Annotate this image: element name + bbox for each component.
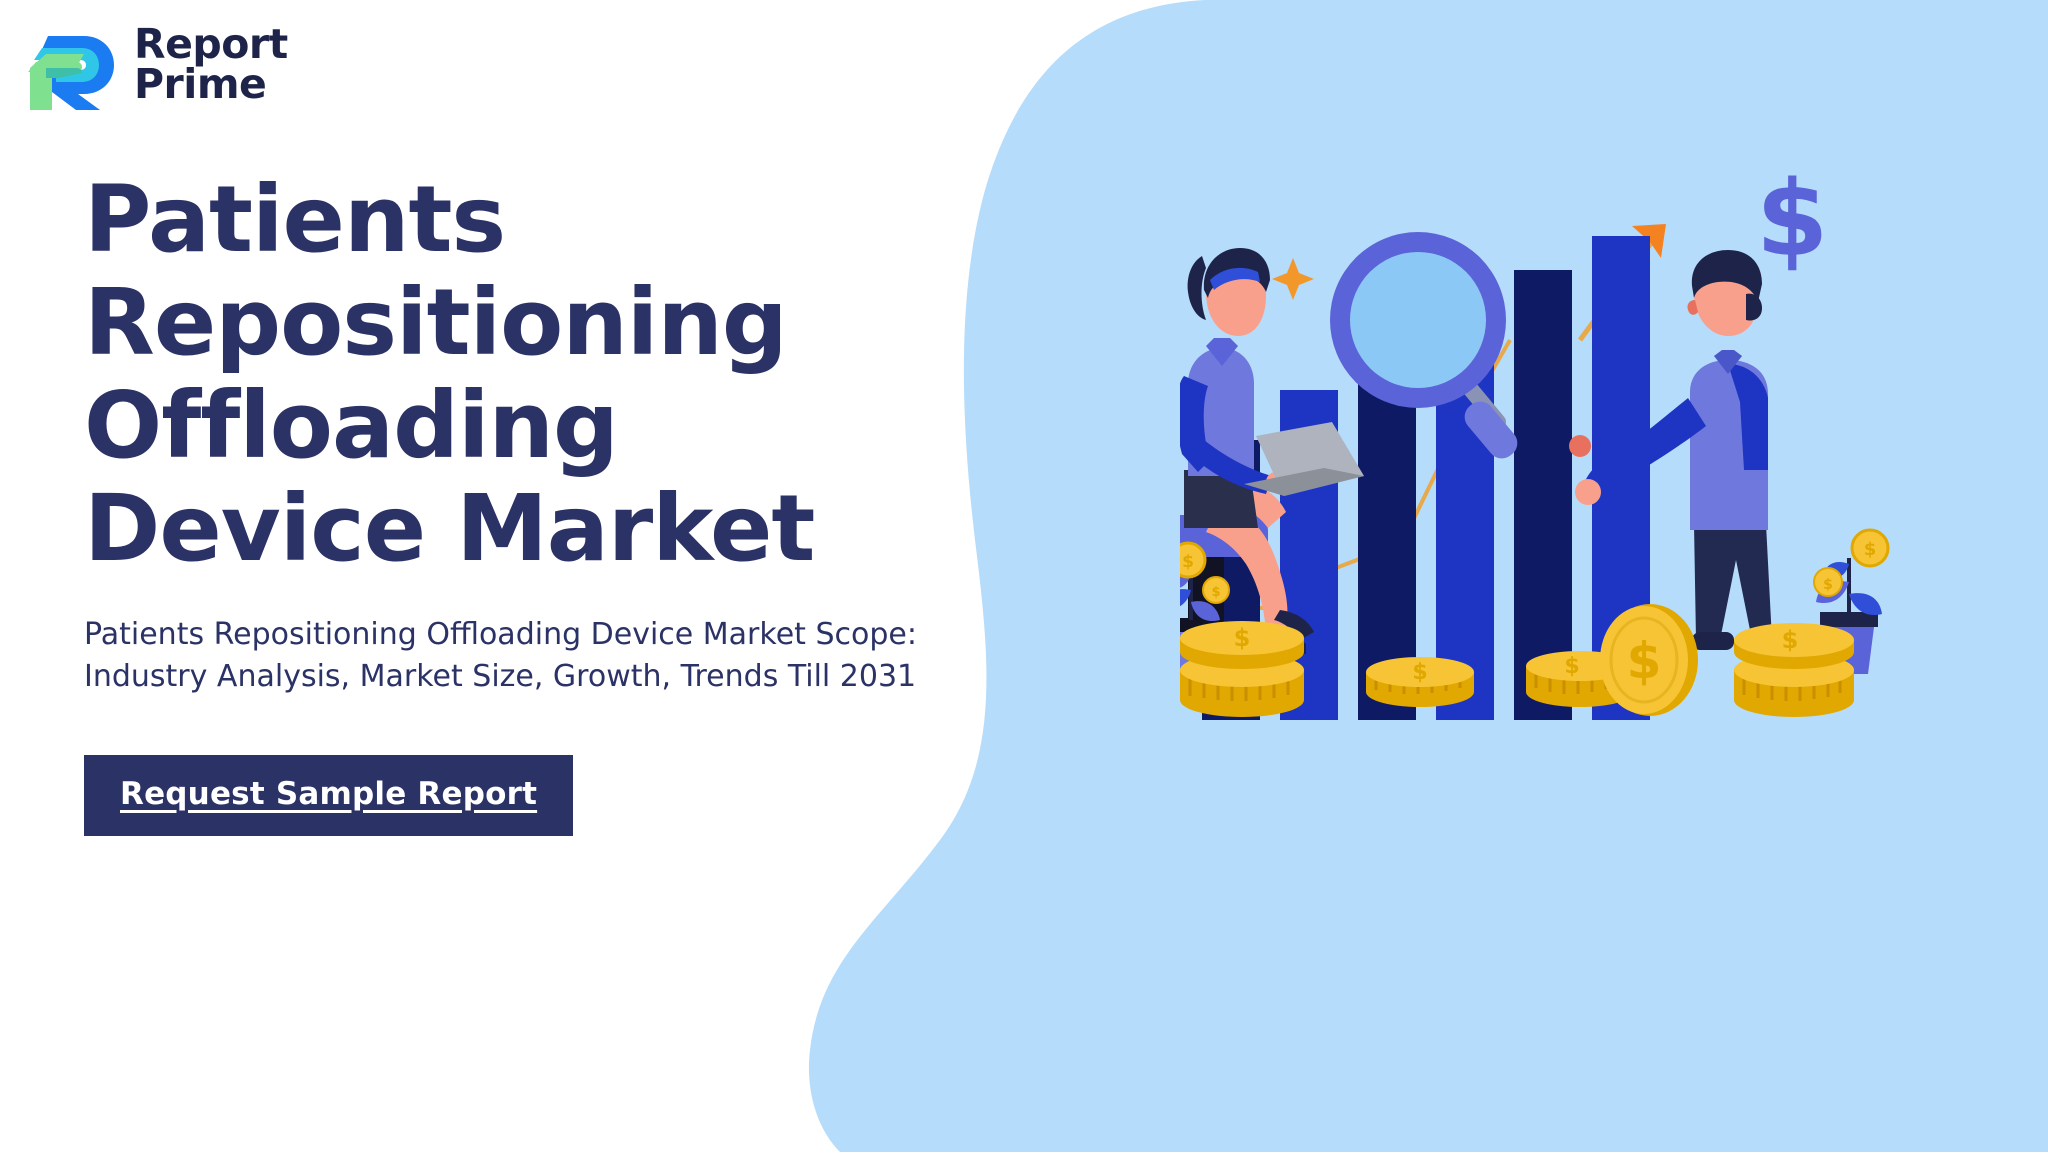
hero-subtitle: Patients Repositioning Offloading Device… bbox=[84, 614, 984, 697]
svg-text:$: $ bbox=[1211, 585, 1220, 600]
coin-stack-left: $ bbox=[1180, 621, 1304, 717]
svg-text:$: $ bbox=[1864, 539, 1877, 560]
svg-text:$: $ bbox=[1627, 632, 1662, 690]
brand-wordmark: Report Prime bbox=[134, 24, 288, 104]
hero-copy: Patients Repositioning Offloading Device… bbox=[84, 168, 984, 836]
brand-name-line2: Prime bbox=[134, 64, 288, 104]
dollar-symbol-large-icon: $ bbox=[1756, 158, 1828, 280]
brand-logo[interactable]: Report Prime bbox=[22, 18, 288, 110]
svg-text:$: $ bbox=[1823, 577, 1833, 593]
request-sample-report-button[interactable]: Request Sample Report bbox=[84, 755, 573, 836]
svg-text:$: $ bbox=[1182, 552, 1194, 572]
marketing-banner: Report Prime Patients Repositioning Offl… bbox=[0, 0, 2048, 1152]
svg-text:$: $ bbox=[1412, 660, 1427, 685]
report-prime-r-logo-icon bbox=[22, 18, 120, 110]
svg-text:$: $ bbox=[1234, 624, 1251, 652]
svg-text:$: $ bbox=[1564, 654, 1579, 679]
cta-container: Request Sample Report bbox=[84, 755, 984, 836]
coin-stack-middle: $ bbox=[1366, 657, 1474, 707]
brand-name-line1: Report bbox=[134, 24, 288, 64]
market-research-illustration: $ $ bbox=[1180, 140, 1940, 720]
svg-text:$: $ bbox=[1756, 158, 1828, 280]
coin-stack-far-right: $ bbox=[1734, 623, 1854, 717]
svg-text:$: $ bbox=[1782, 626, 1799, 654]
sparkle-icon bbox=[1272, 258, 1314, 300]
page-title: Patients Repositioning Offloading Device… bbox=[84, 168, 984, 580]
